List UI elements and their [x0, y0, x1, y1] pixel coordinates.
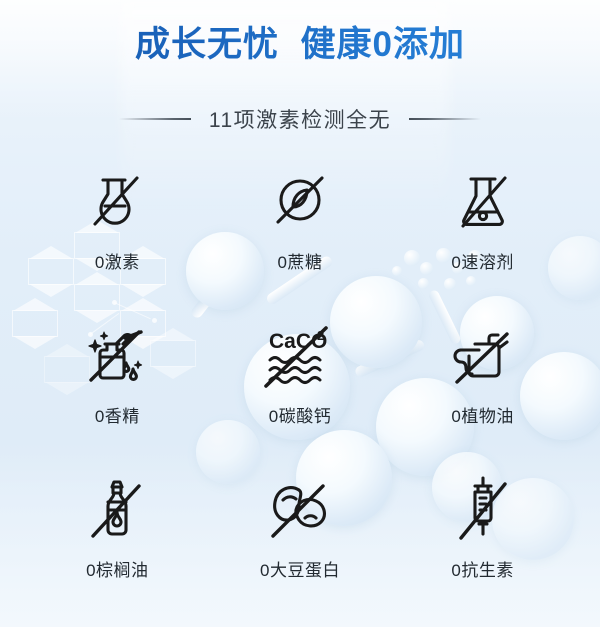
promo-banner: 成长无忧 健康0添加 11项激素检测全无 0激素 [0, 0, 600, 627]
feature-item-antibiotics: 0抗生素 [391, 468, 574, 622]
sugar-circle-slashed-icon [258, 160, 342, 244]
feature-label: 0碳酸钙 [269, 402, 331, 427]
feature-label: 0香精 [95, 402, 140, 427]
feature-item-calcium-carbonate: CaCO 2 0碳酸钙 [209, 314, 392, 468]
erlenmeyer-flask-slashed-icon [441, 160, 525, 244]
oil-jug-slashed-icon [441, 314, 525, 398]
flask-round-slashed-icon [75, 160, 159, 244]
feature-label: 0棕榈油 [86, 556, 148, 581]
header-block: 成长无忧 健康0添加 [0, 22, 600, 68]
subtitle-block: 11项激素检测全无 [0, 104, 600, 134]
feature-item-hormone: 0激素 [26, 160, 209, 314]
feature-label: 0蔗糖 [278, 248, 323, 273]
feature-item-vegetable-oil: 0植物油 [391, 314, 574, 468]
page-title: 成长无忧 健康0添加 [0, 22, 600, 68]
fragrance-dropper-slashed-icon [75, 314, 159, 398]
feature-item-sucrose: 0蔗糖 [209, 160, 392, 314]
caco3-waves-slashed-icon: CaCO 2 [258, 314, 342, 398]
feature-label: 0抗生素 [451, 556, 513, 581]
subtitle-text: 11项激素检测全无 [209, 104, 391, 134]
feature-grid: 0激素 0蔗糖 [26, 160, 574, 622]
feature-label: 0植物油 [451, 402, 513, 427]
syringe-slashed-icon [441, 468, 525, 552]
feature-label: 0大豆蛋白 [260, 556, 340, 581]
feature-item-fragrance: 0香精 [26, 314, 209, 468]
feature-item-soy-protein: 0大豆蛋白 [209, 468, 392, 622]
palm-oil-bottle-slashed-icon [75, 468, 159, 552]
feature-item-solvent: 0速溶剂 [391, 160, 574, 314]
divider-left [119, 118, 191, 120]
soybean-slashed-icon [258, 468, 342, 552]
feature-item-palm-oil: 0棕榈油 [26, 468, 209, 622]
feature-label: 0速溶剂 [451, 248, 513, 273]
feature-label: 0激素 [95, 248, 140, 273]
divider-right [409, 118, 481, 120]
